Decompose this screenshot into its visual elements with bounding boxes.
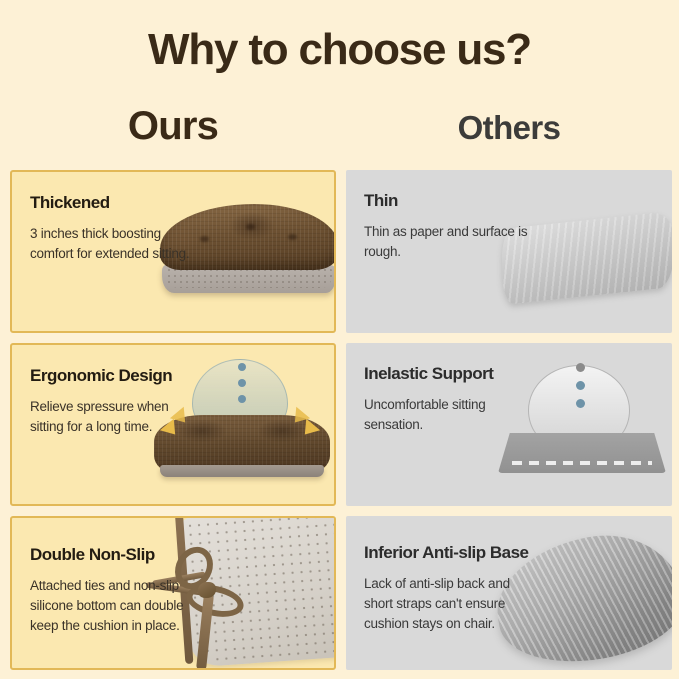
card-body: Relieve spressure when sitting for a lon… xyxy=(30,397,205,437)
card-body: Thin as paper and surface is rough. xyxy=(364,222,539,262)
card-ours-thickened: Thickened 3 inches thick boosting comfor… xyxy=(10,170,336,333)
card-text-block: Inelastic Support Uncomfortable sitting … xyxy=(364,365,539,435)
card-body: Uncomfortable sitting sensation. xyxy=(364,395,539,435)
card-heading: Ergonomic Design xyxy=(30,367,205,386)
card-heading: Thin xyxy=(364,192,539,211)
card-text-block: Thickened 3 inches thick boosting comfor… xyxy=(30,194,205,264)
pressure-dot-icon xyxy=(576,399,585,408)
pressure-dot-icon xyxy=(576,363,585,372)
card-text-block: Inferior Anti-slip Base Lack of anti-sli… xyxy=(364,544,539,634)
card-ours-ergonomic-design: Ergonomic Design Relieve spressure when … xyxy=(10,343,336,506)
card-heading: Thickened xyxy=(30,194,205,213)
pressure-dot-icon xyxy=(238,395,246,403)
tuft-dimple-icon xyxy=(246,224,255,230)
pressure-dot-icon xyxy=(576,381,585,390)
card-others-inelastic-support: Inelastic Support Uncomfortable sitting … xyxy=(346,343,672,506)
flat-slab-shape xyxy=(498,433,666,473)
column-headers: Ours Others xyxy=(0,104,679,154)
page-title: Why to choose us? xyxy=(0,28,679,72)
card-text-block: Double Non-Slip Attached ties and non-sl… xyxy=(30,546,205,636)
card-heading: Double Non-Slip xyxy=(30,546,205,565)
card-others-thin: Thin Thin as paper and surface is rough. xyxy=(346,170,672,333)
column-header-ours: Ours xyxy=(10,104,336,148)
pressure-dot-icon xyxy=(238,363,246,371)
card-body: Lack of anti-slip back and short straps … xyxy=(364,574,539,634)
card-others-inferior-anti-slip-base: Inferior Anti-slip Base Lack of anti-sli… xyxy=(346,516,672,670)
cushion-base-shape xyxy=(160,465,324,477)
pressure-dot-icon xyxy=(238,379,246,387)
card-heading: Inferior Anti-slip Base xyxy=(364,544,539,563)
card-body: 3 inches thick boosting comfort for exte… xyxy=(30,224,205,264)
card-text-block: Thin Thin as paper and surface is rough. xyxy=(364,192,539,262)
card-text-block: Ergonomic Design Relieve spressure when … xyxy=(30,367,205,437)
dashed-line-icon xyxy=(512,461,652,465)
column-header-others: Others xyxy=(346,110,672,146)
card-ours-double-non-slip: Double Non-Slip Attached ties and non-sl… xyxy=(10,516,336,670)
card-heading: Inelastic Support xyxy=(364,365,539,384)
card-body: Attached ties and non-slip silicone bott… xyxy=(30,576,205,636)
tuft-dimple-icon xyxy=(288,234,297,240)
comparison-grid: Thickened 3 inches thick boosting comfor… xyxy=(10,170,672,670)
